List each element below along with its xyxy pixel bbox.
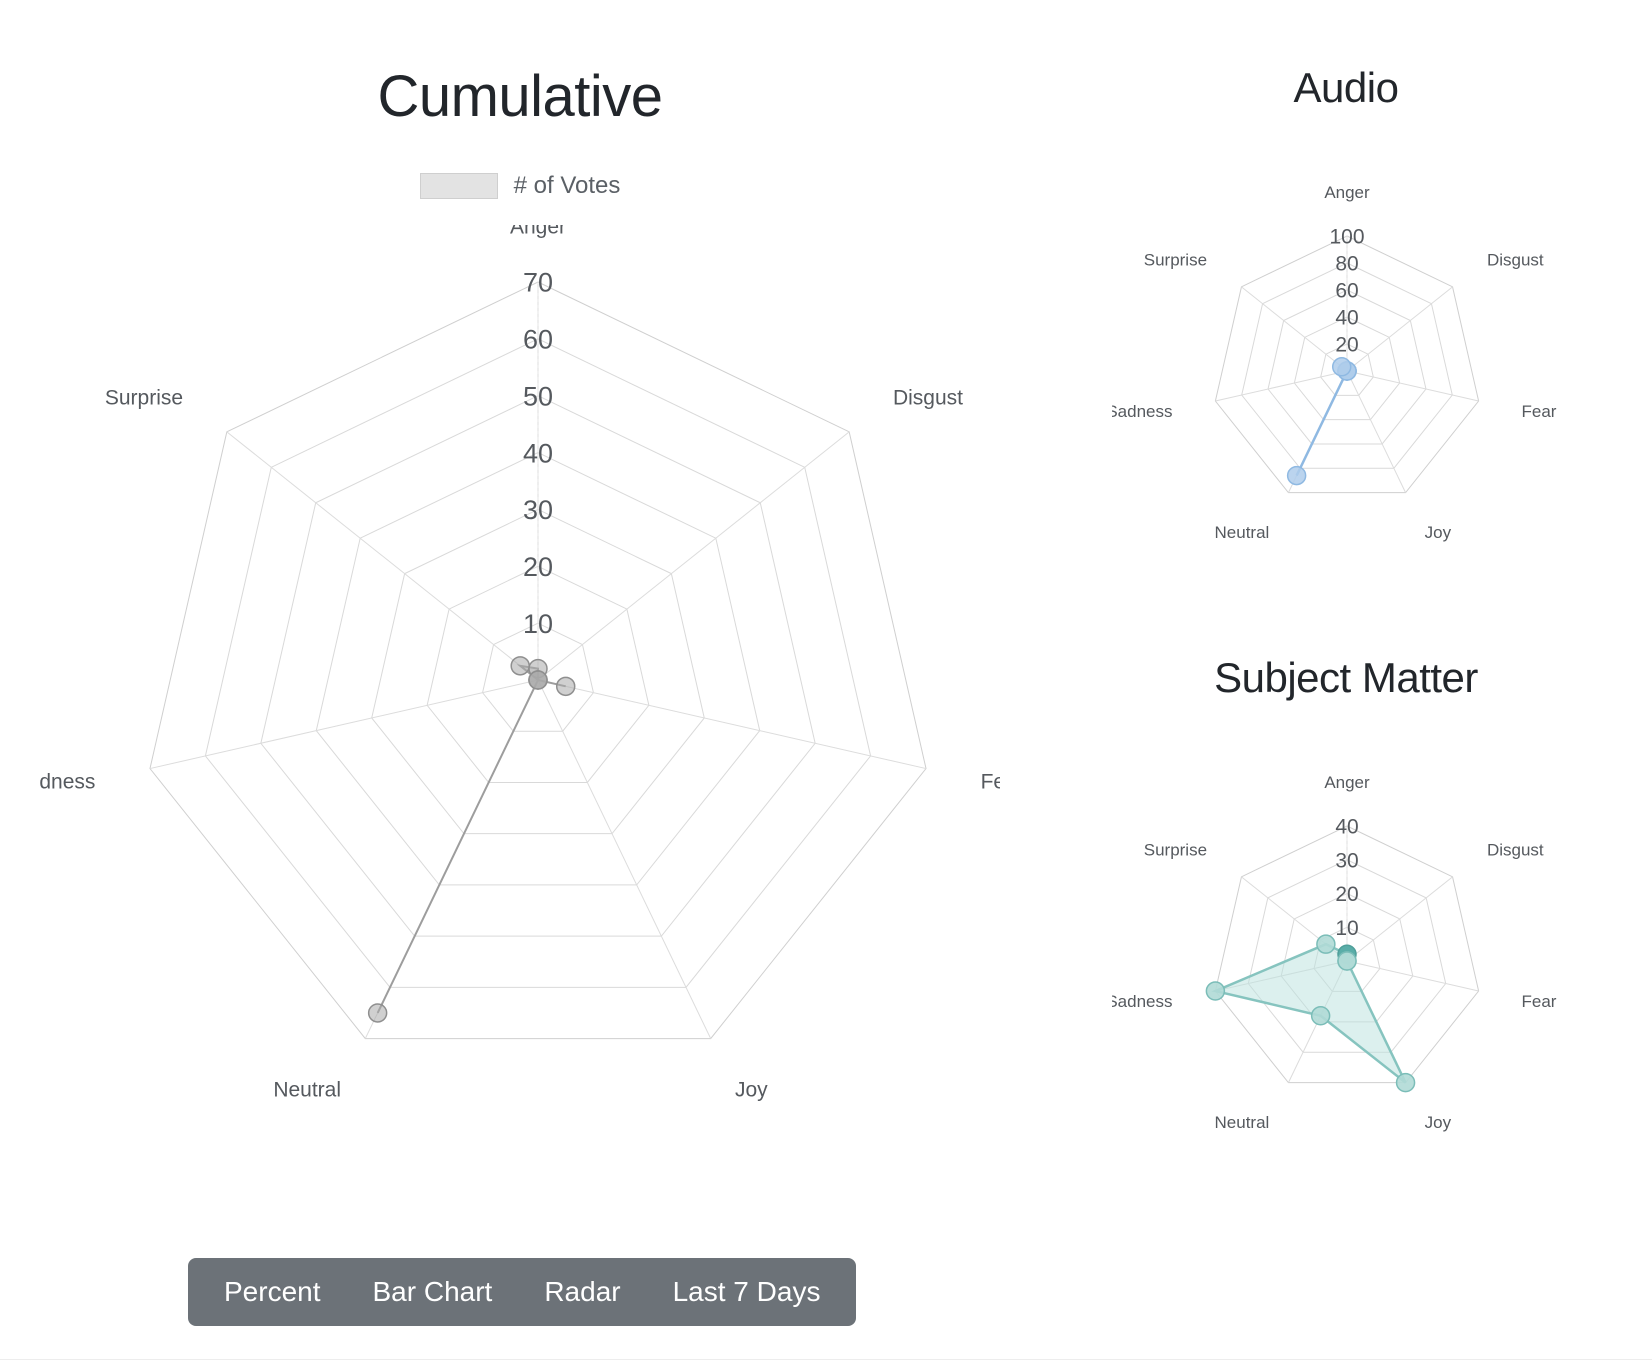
toolbar-button-radar[interactable]: Radar (518, 1258, 646, 1326)
radial-tick-label: 40 (1335, 307, 1358, 330)
toolbar-button-last-7-days[interactable]: Last 7 Days (647, 1258, 847, 1326)
axis-spoke (150, 680, 538, 769)
radial-tick-label: 20 (523, 552, 553, 582)
data-point-surprise[interactable] (511, 657, 529, 675)
data-point-neutral[interactable] (369, 1004, 387, 1022)
axis-spoke (1347, 877, 1453, 961)
radial-tick-label: 30 (523, 495, 553, 525)
data-point-fear[interactable] (1338, 952, 1356, 970)
radial-tick-label: 60 (523, 325, 553, 355)
audio-chart-title: Audio (1040, 62, 1652, 114)
radial-tick-label: 40 (523, 438, 553, 468)
radar-dashboard-page: Cumulative # of Votes 10203040506070Ange… (0, 0, 1652, 1368)
series-area[interactable] (1215, 944, 1405, 1082)
axis-label-anger: Anger (1324, 773, 1370, 792)
data-point-joy[interactable] (1397, 1074, 1415, 1092)
data-point-neutral[interactable] (1288, 467, 1306, 485)
axis-label-fear: Fear (1522, 992, 1557, 1011)
axis-label-fear: Fear (1522, 402, 1557, 421)
axis-label-anger: Anger (1324, 183, 1370, 202)
cumulative-legend: # of Votes (0, 172, 1040, 200)
data-point-sadness[interactable] (529, 671, 547, 689)
cumulative-chart-title: Cumulative (0, 62, 1040, 132)
radial-tick-label: 80 (1335, 253, 1358, 276)
series-area[interactable] (378, 666, 566, 1013)
axis-label-joy: Joy (1425, 1113, 1452, 1132)
axis-label-anger: Anger (510, 225, 566, 238)
axis-spoke (1347, 371, 1406, 493)
axis-label-surprise: Surprise (1144, 840, 1207, 859)
data-point-fear[interactable] (557, 677, 575, 695)
toolbar-button-percent[interactable]: Percent (198, 1258, 347, 1326)
axis-spoke (538, 432, 849, 680)
subject-matter-chart-title: Subject Matter (1040, 652, 1652, 704)
data-point-surprise[interactable] (1333, 358, 1351, 376)
axis-label-disgust: Disgust (1487, 840, 1544, 859)
axis-spoke (1347, 961, 1479, 991)
chart-options-toolbar[interactable]: PercentBar ChartRadarLast 7 Days (188, 1258, 856, 1326)
axis-label-sadness: Sadness (40, 770, 95, 793)
audio-radar-chart[interactable]: 20406080100AngerDisgustFearJoyNeutralSad… (1112, 168, 1582, 568)
legend-label-votes: # of Votes (514, 172, 621, 200)
radial-tick-label: 60 (1335, 280, 1358, 303)
axis-spoke (538, 680, 711, 1039)
page-bottom-rule (0, 1359, 1652, 1368)
axis-label-neutral: Neutral (1215, 1113, 1270, 1132)
axis-label-joy: Joy (1425, 523, 1452, 542)
radial-tick-label: 40 (1335, 816, 1358, 839)
legend-swatch-votes[interactable] (420, 173, 498, 199)
axis-label-joy: Joy (735, 1078, 768, 1101)
axis-label-disgust: Disgust (893, 386, 963, 409)
axis-label-surprise: Surprise (105, 386, 183, 409)
radial-tick-label: 50 (523, 381, 553, 411)
radial-tick-label: 10 (523, 609, 553, 639)
subject-matter-radar-chart[interactable]: 10203040AngerDisgustFearJoyNeutralSadnes… (1112, 758, 1582, 1158)
axis-label-sadness: Sadness (1112, 992, 1172, 1011)
radial-tick-label: 100 (1329, 226, 1364, 249)
data-point-surprise[interactable] (1317, 935, 1335, 953)
toolbar-button-bar-chart[interactable]: Bar Chart (347, 1258, 519, 1326)
axis-spoke (227, 432, 538, 680)
axis-label-disgust: Disgust (1487, 250, 1544, 269)
cumulative-radar-chart[interactable]: 10203040506070AngerDisgustFearJoyNeutral… (40, 225, 1000, 1125)
axis-label-neutral: Neutral (273, 1078, 341, 1101)
data-point-neutral[interactable] (1312, 1007, 1330, 1025)
axis-label-neutral: Neutral (1215, 523, 1270, 542)
radial-tick-label: 20 (1335, 334, 1358, 357)
data-point-sadness[interactable] (1206, 982, 1224, 1000)
axis-label-sadness: Sadness (1112, 402, 1172, 421)
radial-tick-label: 10 (1335, 917, 1358, 940)
series-area[interactable] (1297, 367, 1347, 476)
radial-tick-label: 30 (1335, 849, 1358, 872)
radial-tick-label: 20 (1335, 883, 1358, 906)
axis-label-surprise: Surprise (1144, 250, 1207, 269)
axis-spoke (538, 680, 926, 769)
axis-label-fear: Fear (981, 770, 1000, 793)
radial-tick-label: 70 (523, 268, 553, 298)
